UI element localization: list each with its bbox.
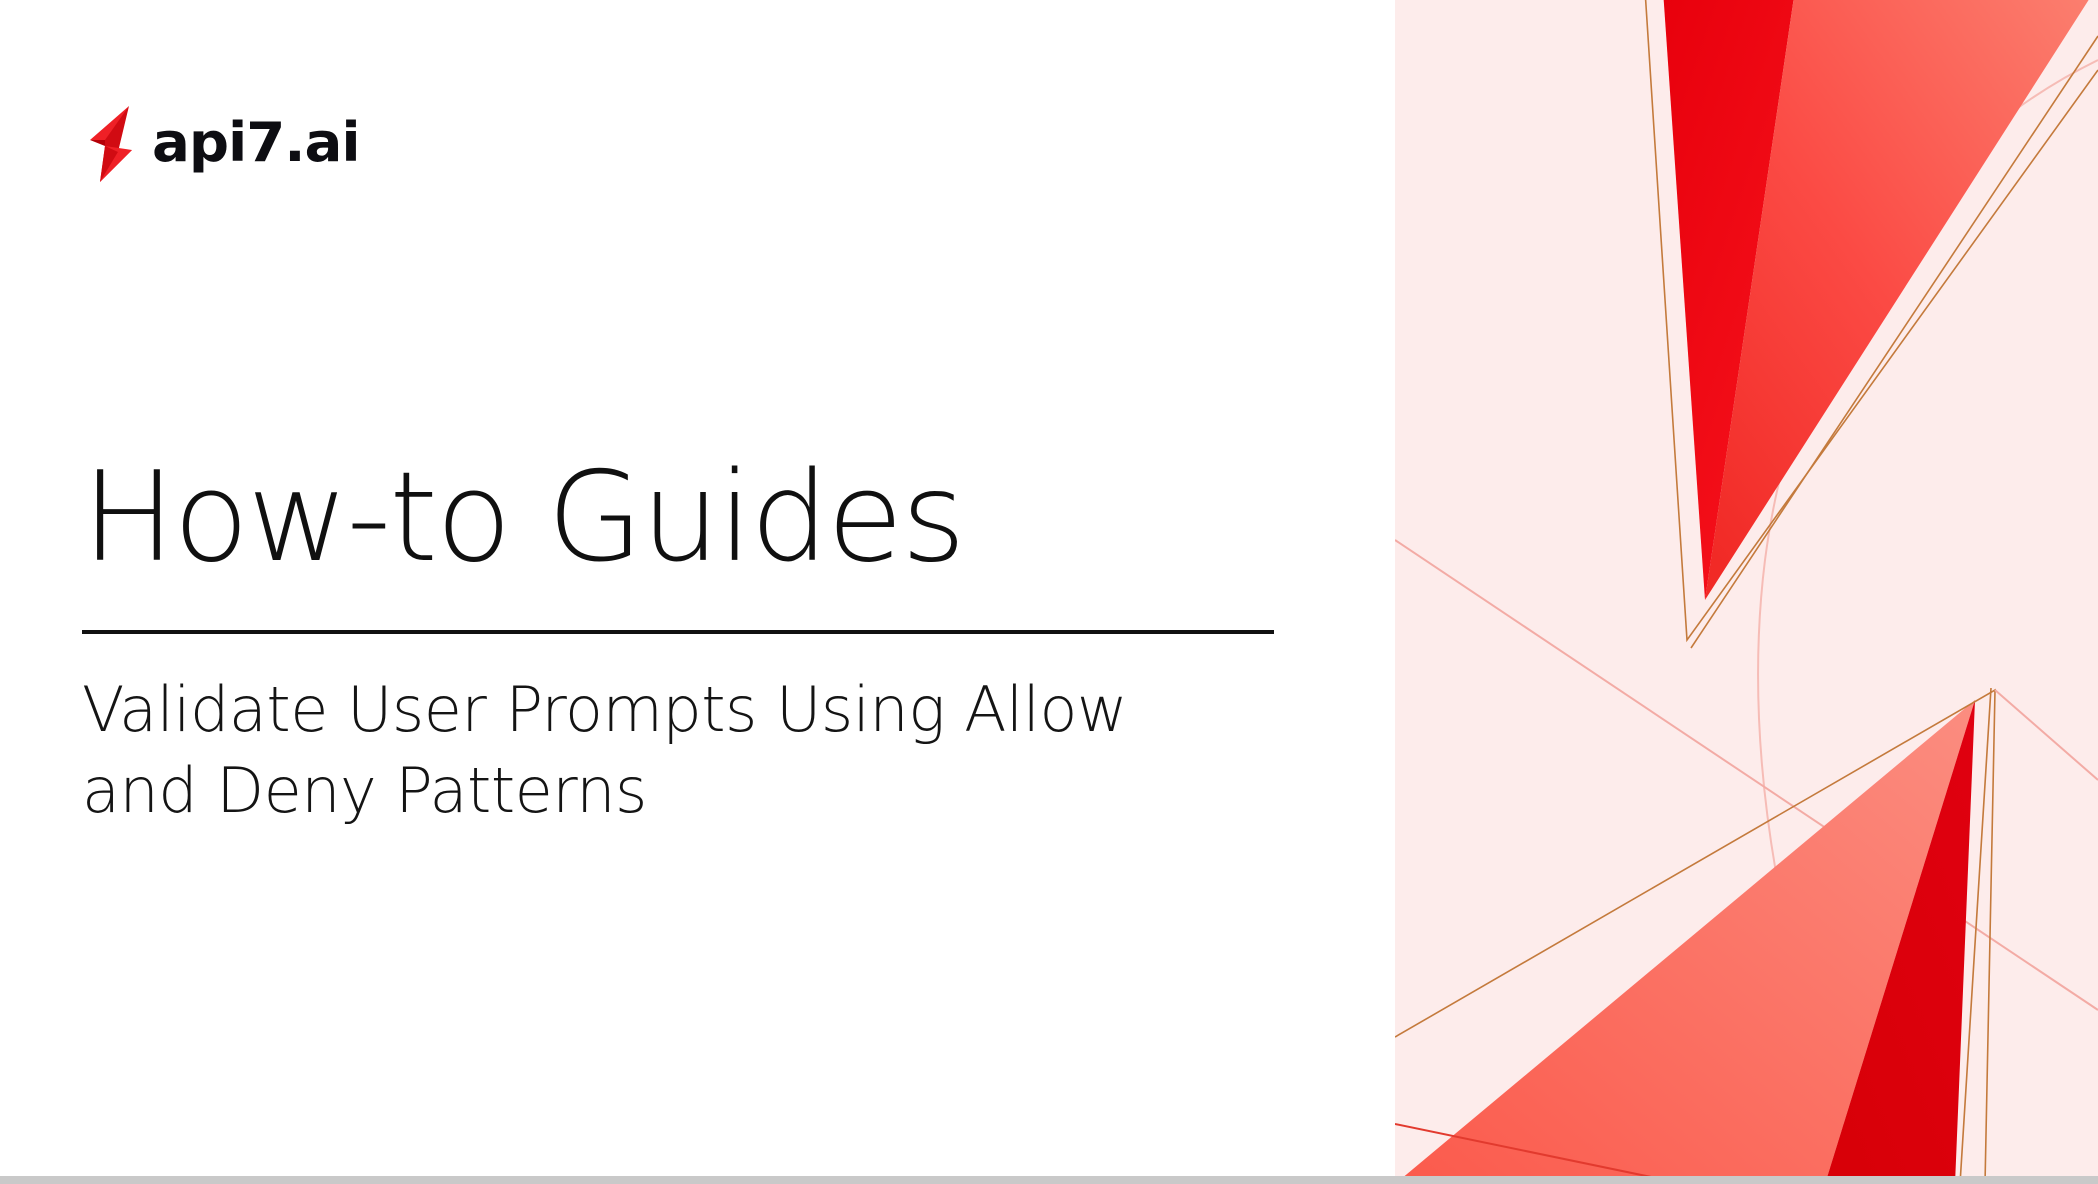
presentation-slide: api7.ai How-to Guides Validate User Prom… (0, 0, 2098, 1184)
lightning-bolt-icon (82, 106, 138, 182)
brand-logo: api7.ai (82, 108, 352, 178)
bottom-edge-bar (0, 1176, 2098, 1184)
slide-content-panel: api7.ai How-to Guides Validate User Prom… (0, 0, 1395, 1184)
brand-wordmark: api7.ai (152, 116, 360, 170)
slide-subtitle: Validate User Prompts Using Allow and De… (82, 634, 1192, 831)
slide-title: How-to Guides (82, 452, 1282, 586)
abstract-geometry-graphic (1395, 0, 2098, 1184)
title-block: How-to Guides Validate User Prompts Usin… (82, 452, 1282, 831)
decorative-graphic-panel (1395, 0, 2098, 1184)
